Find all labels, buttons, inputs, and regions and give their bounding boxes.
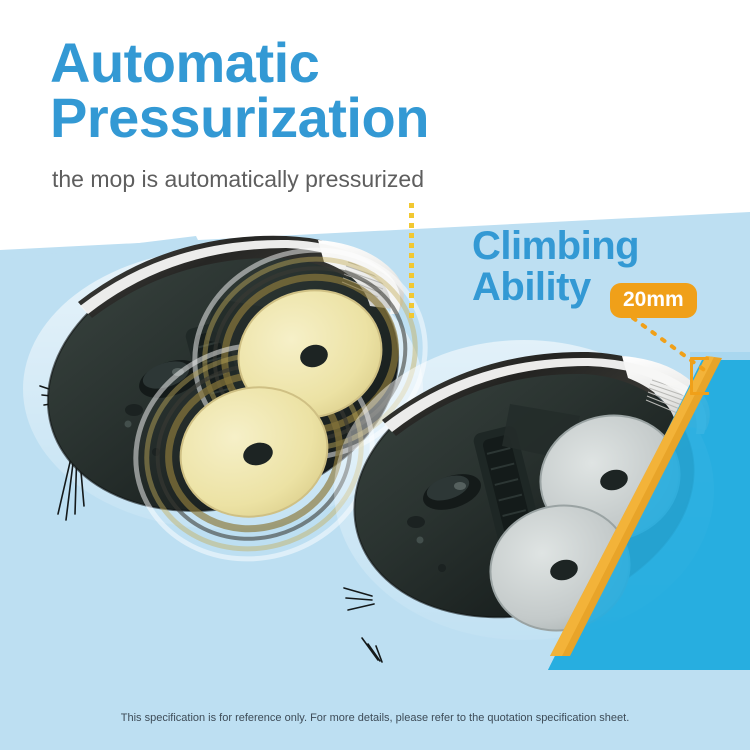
page-title: Automatic Pressurization <box>50 36 429 146</box>
headline-line-2: Pressurization <box>50 91 429 146</box>
footer-disclaimer: This specification is for reference only… <box>0 712 750 724</box>
headline-line-1: Automatic <box>50 31 319 94</box>
dotted-divider-icon <box>409 203 414 321</box>
measure-bracket-icon <box>690 357 709 395</box>
page-subtitle: the mop is automatically pressurized <box>52 166 424 193</box>
product-feature-graphic: Automatic Pressurization the mop is auto… <box>0 0 750 750</box>
side-brush-bristles <box>344 588 382 662</box>
climbing-line-1: Climbing <box>472 224 639 268</box>
status-badge: 20mm <box>610 283 697 318</box>
